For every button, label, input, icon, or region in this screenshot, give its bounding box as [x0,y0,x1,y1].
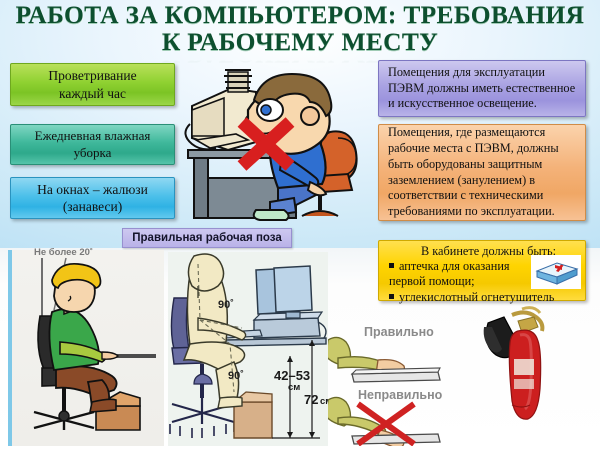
callout-ventilation-line2: каждый час [11,85,174,102]
callout-grounding-line6: требованиями по эксплуатации. [388,204,578,220]
title-line-1: РАБОТА ЗА КОМПЬЮТЕРОМ: ТРЕБОВАНИЯ [0,2,600,28]
first-aid-kit-icon [531,255,581,289]
seat-height-value: 42–53 [274,368,310,383]
callout-grounding-line2: рабочие места с ПЭВМ, должны [388,141,578,157]
bullet-square-icon [389,263,394,268]
poster-canvas: РАБОТА ЗА КОМПЬЮТЕРОМ: ТРЕБОВАНИЯ К РАБО… [0,0,600,450]
callout-lighting-line1: Помещения для эксплуатации [388,65,578,81]
title-line-2: К РАБОЧЕМУ МЕСТУ [0,29,600,55]
callout-grounding-line5: соответствии с техническими [388,188,578,204]
callout-grounding-line1: Помещения, где размещаются [388,125,578,141]
knee-angle-label: 90˚ [228,370,244,382]
callout-cleaning-line1: Ежедневная влажная [11,128,174,145]
callout-grounding-line4: заземлением (занулением) в [388,173,578,189]
callout-cabinet-bullet-2: углекислотный огнетушитель [385,290,578,305]
callout-lighting-line3: и искусственное освещение. [388,96,578,112]
seat-height-unit: см [288,382,300,393]
desk-height-value: 72 [304,392,318,407]
callout-grounding[interactable]: Помещения, где размещаются рабочие места… [378,124,586,221]
bad-posture-illustration [170,58,385,226]
back-angle-label: 90˚ [218,299,234,311]
callout-lighting-line2: ПЭВМ должны иметь естественное [388,81,578,97]
callout-cleaning-line2: уборка [11,145,174,162]
workstation-dimensions-illustration [168,252,328,446]
callout-ventilation-line1: Проветривание [11,67,174,84]
head-tilt-caption: Не более 20˚ [34,247,93,258]
callout-blinds-line1: На окнах – жалюзи [11,181,174,198]
correct-posture-label: Правильная рабочая поза [122,228,292,248]
callout-lighting[interactable]: Помещения для эксплуатации ПЭВМ должны и… [378,60,586,117]
wrist-incorrect-caption: Неправильно [358,388,442,402]
callout-cleaning[interactable]: Ежедневная влажная уборка [10,124,175,165]
callout-ventilation[interactable]: Проветривание каждый час [10,63,175,106]
callout-blinds-line2: (занавеси) [11,198,174,215]
bullet-square-icon [389,294,394,299]
callout-blinds[interactable]: На окнах – жалюзи (занавеси) [10,177,175,219]
callout-grounding-line3: быть оборудованы защитным [388,157,578,173]
wrist-correct-caption: Правильно [364,325,434,339]
fire-extinguisher-illustration [482,305,562,445]
callout-cabinet-equipment[interactable]: В кабинете должны быть: аптечка для оказ… [378,240,586,301]
correct-sitting-posture-illustration [8,250,160,446]
